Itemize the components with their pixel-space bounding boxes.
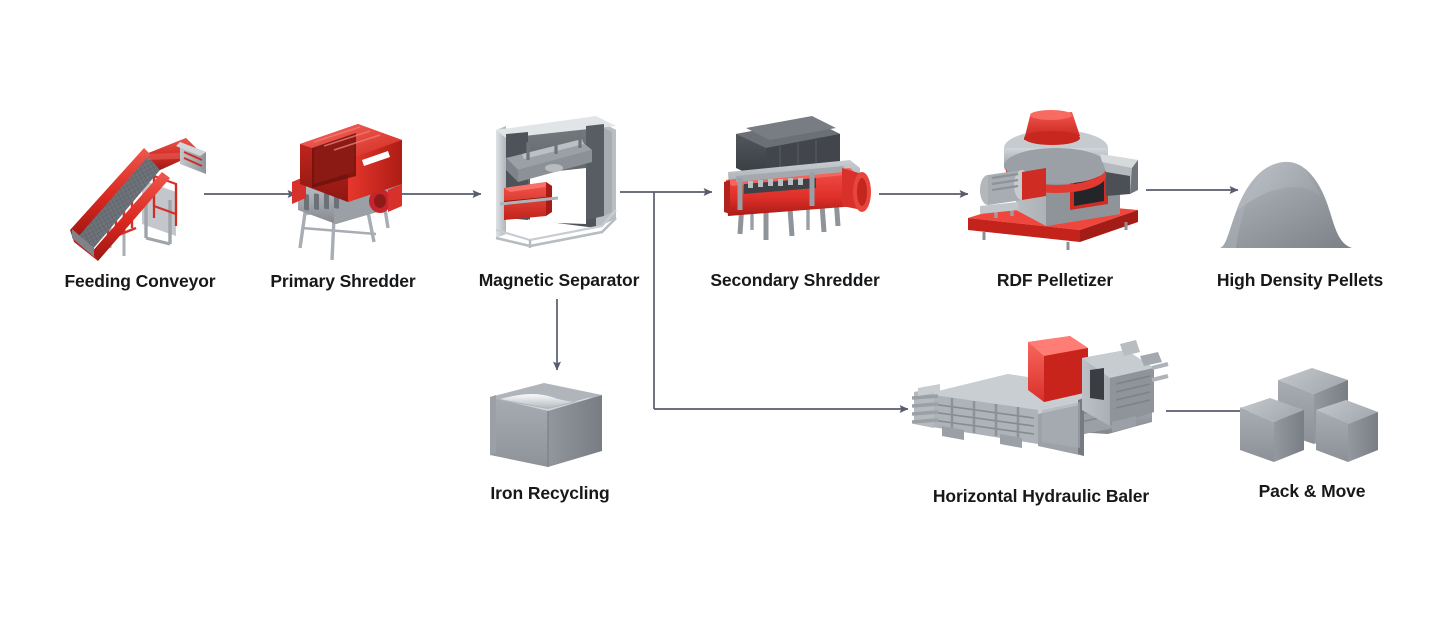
- node-label-secondary-shredder: Secondary Shredder: [700, 272, 890, 290]
- process-flow-diagram: Feeding Conveyor: [0, 0, 1440, 620]
- inclined-belt-conveyor-icon: [50, 118, 230, 263]
- node-label-primary-shredder: Primary Shredder: [262, 273, 424, 291]
- magnetic-separator-icon: [470, 112, 648, 262]
- scrap-bin-icon: [460, 375, 640, 475]
- node-high-density-pellets[interactable]: High Density Pellets: [1210, 150, 1390, 310]
- primary-shredder-icon: [262, 110, 424, 262]
- node-label-magnetic-separator: Magnetic Separator: [470, 272, 648, 290]
- node-primary-shredder[interactable]: Primary Shredder: [262, 110, 424, 300]
- secondary-shredder-icon: [700, 112, 890, 262]
- node-label-iron-recycling: Iron Recycling: [460, 485, 640, 503]
- rdf-pelletizer-icon: [960, 110, 1150, 260]
- pellet-pile-icon: [1210, 150, 1390, 260]
- stacked-bales-icon: [1226, 358, 1398, 473]
- node-label-rdf-pelletizer: RDF Pelletizer: [960, 272, 1150, 290]
- horizontal-baler-icon: [912, 330, 1170, 480]
- node-secondary-shredder[interactable]: Secondary Shredder: [700, 112, 890, 302]
- node-magnetic-separator[interactable]: Magnetic Separator: [470, 112, 648, 302]
- node-feeding-conveyor[interactable]: Feeding Conveyor: [50, 118, 230, 298]
- connector-layer: [0, 0, 1440, 620]
- node-label-high-density-pellets: High Density Pellets: [1210, 272, 1390, 290]
- node-rdf-pelletizer[interactable]: RDF Pelletizer: [960, 110, 1150, 300]
- node-horizontal-hydraulic-baler[interactable]: Horizontal Hydraulic Baler: [912, 330, 1170, 520]
- node-label-pack-and-move: Pack & Move: [1226, 483, 1398, 501]
- node-label-feeding-conveyor: Feeding Conveyor: [50, 273, 230, 291]
- node-iron-recycling[interactable]: Iron Recycling: [460, 375, 640, 525]
- node-label-horizontal-hydraulic-baler: Horizontal Hydraulic Baler: [912, 488, 1170, 506]
- node-pack-and-move[interactable]: Pack & Move: [1226, 358, 1398, 508]
